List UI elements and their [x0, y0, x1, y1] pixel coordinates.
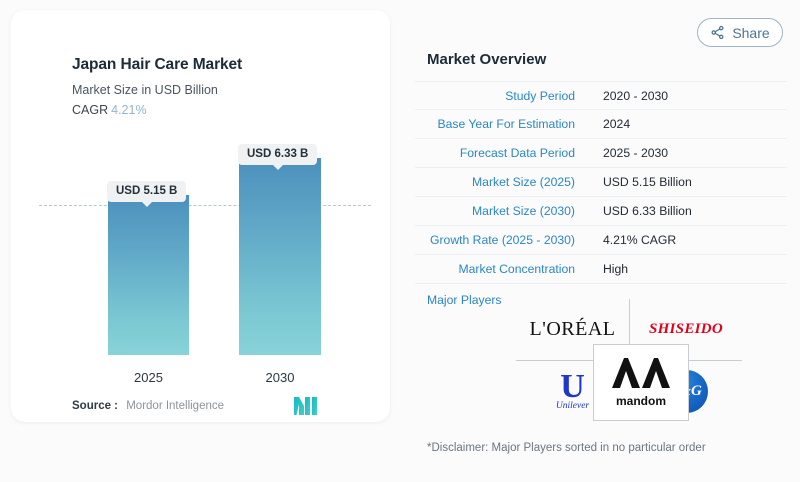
player-mandom: mandom — [593, 344, 689, 421]
mordor-intelligence-logo — [294, 397, 320, 420]
share-button-label: Share — [732, 25, 769, 41]
row-label: Forecast Data Period — [415, 146, 575, 160]
row-value: 4.21% CAGR — [575, 233, 787, 247]
row-value: 2025 - 2030 — [575, 146, 787, 160]
table-row: Market Size (2025) USD 5.15 Billion — [415, 168, 787, 197]
bars-area: USD 5.15 B USD 6.33 B — [11, 10, 390, 355]
row-label: Market Concentration — [415, 262, 575, 276]
loreal-logo: L'ORÉAL — [530, 318, 616, 341]
table-row: Market Concentration High — [415, 255, 787, 284]
source-line: Source : Mordor Intelligence — [72, 400, 224, 412]
share-icon — [710, 25, 725, 40]
row-label: Study Period — [415, 89, 575, 103]
mandom-chevrons-icon — [610, 358, 672, 393]
table-row: Market Size (2030) USD 6.33 Billion — [415, 197, 787, 226]
table-row: Study Period 2020 - 2030 — [415, 81, 787, 110]
row-value: 2024 — [575, 117, 787, 131]
row-label: Market Size (2030) — [415, 204, 575, 218]
table-row: Base Year For Estimation 2024 — [415, 110, 787, 139]
bar-2025[interactable] — [108, 195, 189, 355]
market-overview-table: Study Period 2020 - 2030 Base Year For E… — [415, 81, 787, 284]
mandom-logo: mandom — [616, 394, 666, 408]
row-value: USD 6.33 Billion — [575, 204, 787, 218]
unilever-logo: Unilever — [556, 401, 589, 411]
shiseido-logo: SHISEIDO — [649, 321, 723, 338]
bar-label-2025: USD 5.15 B — [107, 181, 186, 202]
share-button[interactable]: Share — [697, 18, 783, 47]
market-overview-title: Market Overview — [427, 51, 546, 68]
source-label: Source : — [72, 400, 118, 412]
major-players-label: Major Players — [427, 293, 502, 307]
infographic-root: Share Japan Hair Care Market Market Size… — [0, 0, 800, 482]
disclaimer-text: *Disclaimer: Major Players sorted in no … — [427, 442, 706, 454]
row-label: Growth Rate (2025 - 2030) — [415, 233, 575, 247]
unilever-u-icon: U — [556, 371, 589, 403]
x-tick-2025: 2025 — [108, 370, 189, 385]
bar-label-2030: USD 6.33 B — [238, 144, 317, 165]
row-value: 2020 - 2030 — [575, 89, 787, 103]
row-value: USD 5.15 Billion — [575, 175, 787, 189]
row-value: High — [575, 262, 787, 276]
chart-card: Japan Hair Care Market Market Size in US… — [11, 10, 390, 422]
table-row: Growth Rate (2025 - 2030) 4.21% CAGR — [415, 226, 787, 255]
row-label: Base Year For Estimation — [415, 117, 575, 131]
x-tick-2030: 2030 — [239, 370, 321, 385]
bar-2030[interactable] — [239, 158, 321, 355]
row-label: Market Size (2025) — [415, 175, 575, 189]
table-row: Forecast Data Period 2025 - 2030 — [415, 139, 787, 168]
source-name: Mordor Intelligence — [126, 400, 224, 412]
major-players-logo-grid: L'ORÉAL SHISEIDO U Unilever P&G mandom — [516, 299, 742, 421]
